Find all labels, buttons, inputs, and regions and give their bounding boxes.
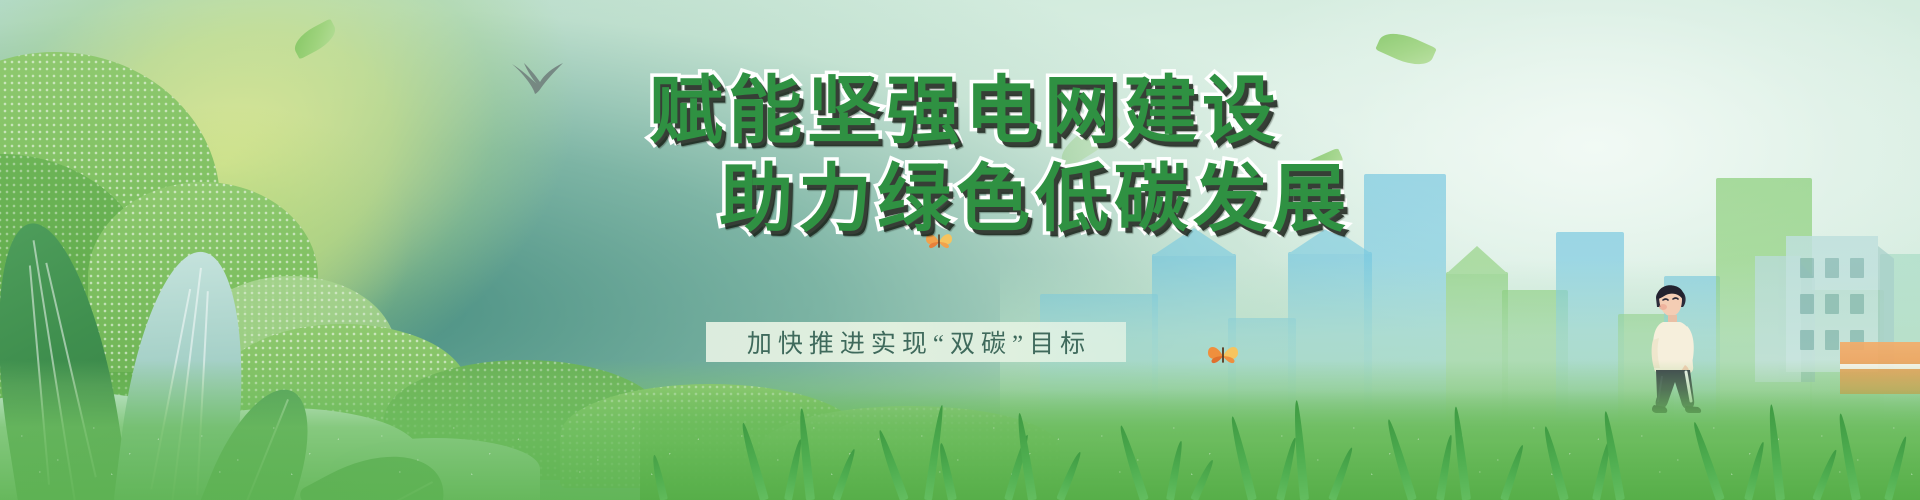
swallow-bird-icon	[510, 62, 566, 96]
subtitle-bar: 加快推进实现“双碳”目标	[706, 322, 1126, 362]
butterfly	[1205, 340, 1241, 370]
butterfly	[924, 228, 954, 254]
eco-power-grid-banner: 赋能坚强电网建设 助力绿色低碳发展 加快推进实现“双碳”目标	[0, 0, 1920, 500]
subtitle-text: 加快推进实现“双碳”目标	[741, 324, 1091, 360]
grass-speckles	[0, 404, 1920, 500]
